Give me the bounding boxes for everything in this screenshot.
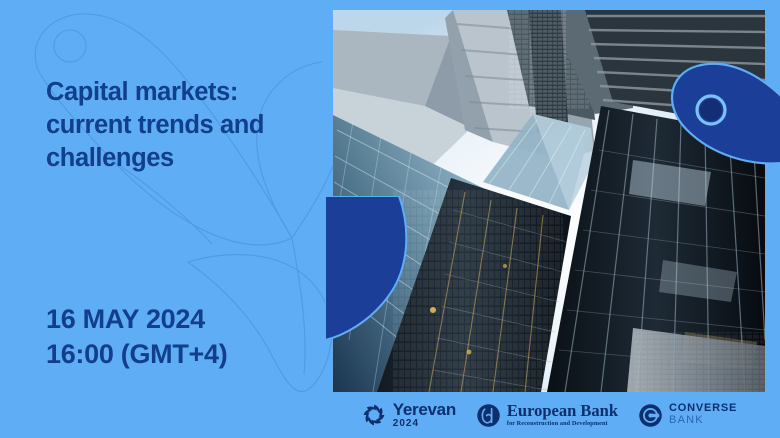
- event-title: Capital markets: current trends and chal…: [46, 76, 326, 175]
- logo-converse-sub: BANK: [669, 415, 737, 427]
- event-title-line-1: Capital markets:: [46, 76, 326, 109]
- ebrd-monogram-icon: [476, 403, 501, 428]
- logo-ebrd: European Bank for Reconstruction and Dev…: [476, 403, 618, 428]
- logo-yerevan-year: 2024: [393, 419, 456, 429]
- logo-yerevan-text: Yerevan 2024: [393, 401, 456, 429]
- left-content-column: Capital markets: current trends and chal…: [0, 0, 333, 438]
- logo-yerevan-name: Yerevan: [393, 401, 456, 418]
- logo-ebrd-name: European Bank: [507, 403, 618, 420]
- event-title-line-3: challenges: [46, 142, 326, 175]
- pinwheel-icon: [361, 402, 387, 428]
- event-title-line-2: current trends and: [46, 109, 326, 142]
- poster-canvas: Capital markets: current trends and chal…: [0, 0, 780, 438]
- event-datetime: 16 MAY 2024 16:00 (GMT+4): [46, 302, 227, 371]
- partner-logo-bar: Yerevan 2024 European Bank for Reconstru…: [333, 392, 765, 438]
- event-time: 16:00 (GMT+4): [46, 337, 227, 372]
- logo-converse-text: CONVERSE BANK: [669, 403, 737, 426]
- logo-ebrd-text: European Bank for Reconstruction and Dev…: [507, 403, 618, 428]
- logo-converse: CONVERSE BANK: [638, 403, 737, 428]
- converse-circle-icon: [638, 403, 663, 428]
- skyscraper-photo: [333, 10, 765, 392]
- event-date: 16 MAY 2024: [46, 302, 227, 337]
- logo-ebrd-sub: for Reconstruction and Development: [507, 421, 618, 427]
- logo-yerevan: Yerevan 2024: [361, 401, 456, 429]
